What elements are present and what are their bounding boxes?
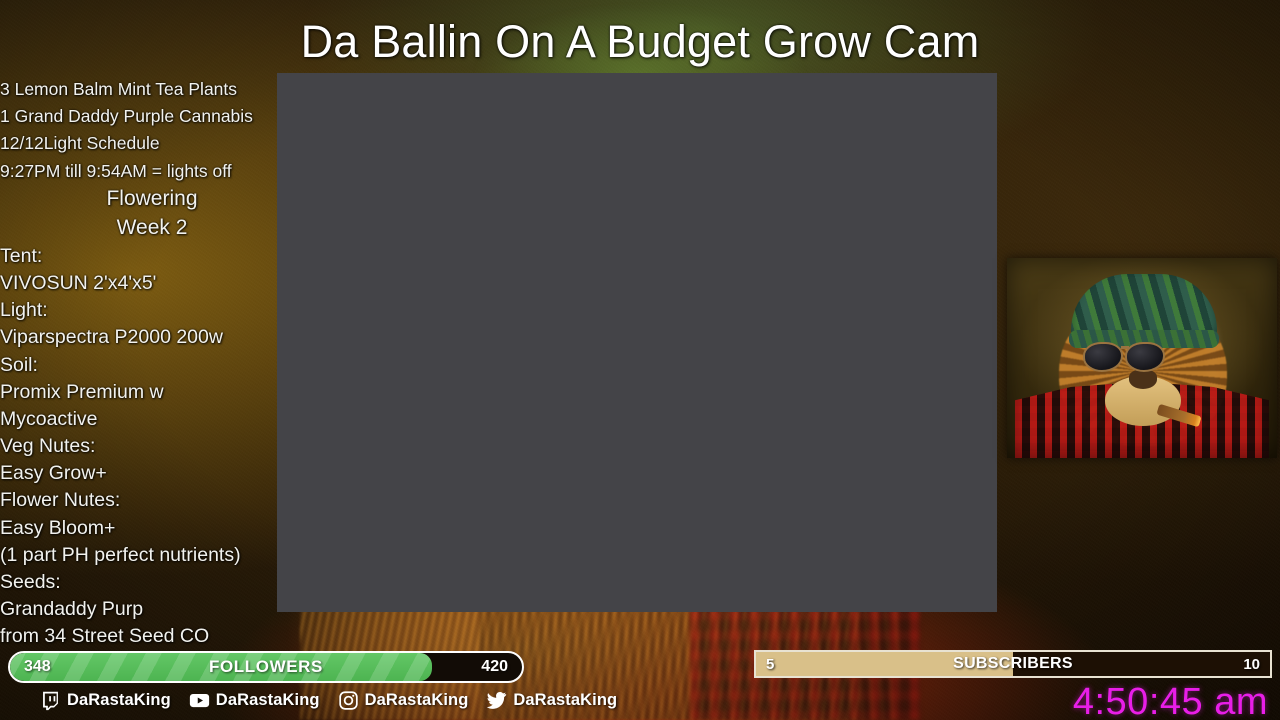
clock: 4:50:45 am [1073, 681, 1268, 720]
info-spec-veg-label: Veg Nutes: [0, 433, 300, 460]
grow-cam-video-area[interactable] [277, 73, 997, 612]
info-spec-tent-value: VIVOSUN 2'x4'x5' [0, 270, 300, 297]
info-spec-flower-value: Easy Bloom+ [0, 515, 300, 542]
info-spec-tent-label: Tent: [0, 243, 300, 270]
social-twitter[interactable]: DaRastaKing [486, 690, 617, 711]
info-spec-soil-label: Soil: [0, 352, 300, 379]
social-twitch-handle: DaRastaKing [67, 691, 171, 710]
stream-overlay-stage: Da Ballin On A Budget Grow Cam 3 Lemon B… [0, 0, 1280, 720]
avatar [1007, 258, 1277, 458]
info-line-lights-off: 9:27PM till 9:54AM = lights off [0, 158, 300, 185]
twitter-icon [486, 690, 507, 711]
youtube-icon [189, 690, 210, 711]
info-spec-veg-value: Easy Grow+ [0, 460, 300, 487]
info-stage: Flowering [0, 185, 300, 214]
stream-title: Da Ballin On A Budget Grow Cam [0, 16, 1280, 68]
info-spec-flower-label: Flower Nutes: [0, 487, 300, 514]
social-youtube[interactable]: DaRastaKing [189, 690, 320, 711]
social-twitch[interactable]: DaRastaKing [40, 690, 171, 711]
followers-label: FOLLOWERS [10, 653, 522, 681]
info-spec-soil-value: Promix Premium w [0, 379, 300, 406]
info-week: Week 2 [0, 214, 300, 243]
followers-goal-bar: 348 FOLLOWERS 420 [8, 651, 524, 683]
info-spec-light-label: Light: [0, 297, 300, 324]
grow-info-panel: 3 Lemon Balm Mint Tea Plants 1 Grand Dad… [0, 76, 300, 651]
info-spec-soil-value-2: Mycoactive [0, 406, 300, 433]
info-spec-nutrient-note: (1 part PH perfect nutrients) [0, 542, 300, 569]
info-spec-seeds-label: Seeds: [0, 569, 300, 596]
subscribers-label: SUBSCRIBERS [756, 652, 1270, 676]
social-youtube-handle: DaRastaKing [216, 691, 320, 710]
avatar-frame [1007, 258, 1277, 458]
info-spec-seeds-value: Grandaddy Purp [0, 596, 300, 623]
info-line-plants-mint: 3 Lemon Balm Mint Tea Plants [0, 76, 300, 103]
followers-goal-count: 420 [481, 653, 508, 681]
social-twitter-handle: DaRastaKing [513, 691, 617, 710]
info-line-plants-cannabis: 1 Grand Daddy Purple Cannabis [0, 103, 300, 130]
subscribers-goal-bar: 5 SUBSCRIBERS 10 [754, 650, 1272, 678]
social-handles-bar: DaRastaKing DaRastaKing DaRastaKing [40, 686, 660, 714]
info-spec-seeds-source: from 34 Street Seed CO [0, 623, 300, 650]
info-line-light-schedule: 12/12Light Schedule [0, 130, 300, 157]
social-instagram-handle: DaRastaKing [365, 691, 469, 710]
subscribers-goal-count: 10 [1243, 652, 1260, 676]
instagram-icon [338, 690, 359, 711]
social-instagram[interactable]: DaRastaKing [338, 690, 469, 711]
twitch-icon [40, 690, 61, 711]
info-spec-light-value: Viparspectra P2000 200w [0, 324, 300, 351]
